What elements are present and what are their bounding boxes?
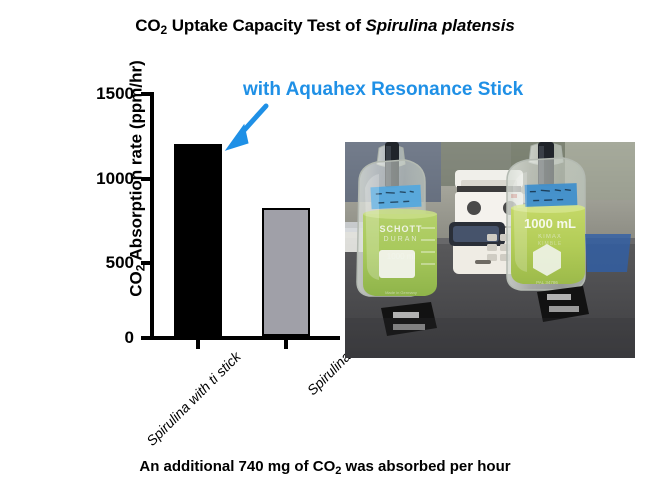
annotation-label-aquahex: with Aquahex Resonance Stick	[243, 79, 523, 101]
figure-caption: An additional 740 mg of CO2 was absorbed…	[0, 458, 650, 477]
y-tick-label-0: 0	[78, 328, 134, 348]
svg-text:Made in Germany: Made in Germany	[385, 290, 417, 295]
chart-title-middle: Uptake Capacity Test of	[167, 16, 365, 35]
x-tick-control	[284, 340, 288, 349]
svg-text:SCHOTT: SCHOTT	[380, 224, 423, 234]
lab-photo: SCHOTT DURAN 1000 ml Made in Germany	[345, 142, 635, 358]
y-axis-title-co2-text: CO	[127, 271, 146, 297]
y-tick-label-500: 500	[78, 253, 134, 273]
y-tick-label-1000: 1000	[78, 169, 134, 189]
caption-part-2: was absorbed per hour	[341, 458, 510, 475]
y-axis-title-co2-subscript: 2	[134, 265, 148, 272]
bar-spirulina-with-ti-stick[interactable]	[174, 144, 222, 336]
chart-title: CO2 Uptake Capacity Test of Spirulina pl…	[0, 16, 650, 37]
svg-text:DURAN: DURAN	[384, 236, 419, 243]
figure-container: CO2 Uptake Capacity Test of Spirulina pl…	[0, 0, 650, 502]
y-tick-label-1500: 1500	[78, 84, 134, 104]
y-tick-1000	[141, 177, 151, 181]
x-axis-label-spirulina-with-ti-stick: Spirulina with ti stick	[122, 348, 244, 470]
svg-text:1000 ml: 1000 ml	[387, 252, 416, 261]
y-tick-500	[141, 261, 151, 265]
y-tick-0	[141, 336, 151, 340]
bar-spirulina[interactable]	[262, 208, 310, 336]
svg-text:PAL 34786: PAL 34786	[536, 280, 558, 285]
svg-text:KIMAX: KIMAX	[538, 234, 562, 240]
chart-title-species: Spirulina platensis	[366, 16, 515, 35]
y-axis-line	[150, 92, 154, 340]
caption-part-1: An additional 740 mg of CO	[139, 458, 335, 475]
x-tick-treated	[196, 340, 200, 349]
svg-text:KIMBLE: KIMBLE	[538, 241, 562, 247]
svg-text:1000 mL: 1000 mL	[524, 216, 576, 231]
annotation-arrow-icon	[218, 103, 274, 153]
x-axis-label-spirulina: Spirulina	[232, 348, 354, 470]
y-tick-1500	[141, 92, 151, 96]
x-axis-line	[150, 336, 340, 340]
